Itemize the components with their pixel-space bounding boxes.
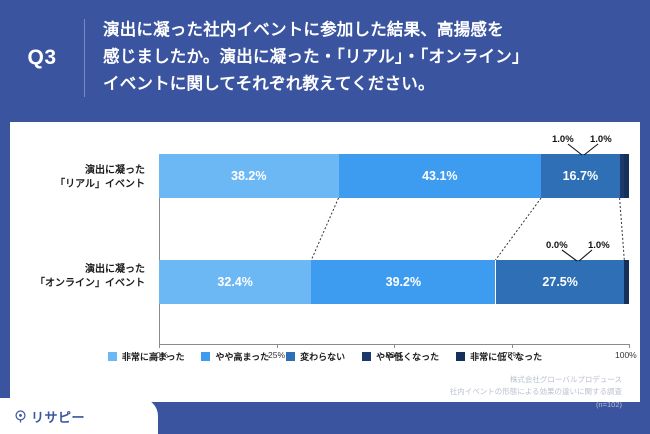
brand-logo[interactable]: リサピー — [14, 407, 85, 426]
x-tick-3 — [512, 344, 513, 348]
callout-row-1-leader-lines — [544, 250, 628, 262]
question-number: Q3 — [0, 46, 84, 70]
legend-label-3: やや低くなった — [376, 350, 439, 363]
legend-swatch-0 — [108, 352, 117, 361]
legend-swatch-4 — [456, 352, 465, 361]
legend-label-0: 非常に高まった — [122, 350, 185, 363]
category-label-0-line-0: 演出に凝った — [10, 164, 145, 178]
header-divider — [84, 19, 85, 97]
credit-sample-size: (n=102) — [450, 399, 622, 411]
legend-item-4[interactable]: 非常に低くなった — [456, 350, 542, 363]
chart-panel: 演出に凝った 「リアル」イベント 演出に凝った 「オンライン」イベント 38.2… — [10, 122, 640, 402]
survey-chart-slide: Q3 演出に凝った社内イベントに参加した結果、高揚感を 感じましたか。演出に凝っ… — [0, 0, 650, 434]
bar-segment-1-0: 32.4% — [159, 260, 311, 304]
legend-item-0[interactable]: 非常に高まった — [108, 350, 185, 363]
stacked-bar-row-0: 38.2% 43.1% 16.7% — [159, 154, 629, 198]
bar-segment-0-2: 16.7% — [541, 154, 620, 198]
category-label-0-line-1: 「リアル」イベント — [10, 178, 145, 192]
question-header: Q3 演出に凝った社内イベントに参加した結果、高揚感を 感じましたか。演出に凝っ… — [0, 0, 650, 115]
question-line-1: 演出に凝った社内イベントに参加した結果、高揚感を — [103, 17, 529, 44]
chart-legend: 非常に高まった やや高まった 変わらない やや低くなった 非常に低くなった — [10, 350, 640, 363]
callout-row-0-leader-lines — [550, 144, 630, 156]
bar-segment-1-2: 27.5% — [496, 260, 625, 304]
credit-survey: 社内イベントの形態による効果の違いに関する調査 — [450, 386, 622, 398]
legend-item-3[interactable]: やや低くなった — [362, 350, 439, 363]
x-tick-1 — [277, 344, 278, 348]
bar-segment-0-4 — [624, 154, 629, 198]
question-text: 演出に凝った社内イベントに参加した結果、高揚感を 感じましたか。演出に凝った・「… — [85, 17, 529, 97]
credit-company: 株式会社グローバルプロデュース — [450, 374, 622, 386]
legend-swatch-1 — [201, 352, 210, 361]
category-label-1-line-1: 「オンライン」イベント — [10, 277, 145, 291]
bar-category-label-0: 演出に凝った 「リアル」イベント — [10, 164, 152, 191]
legend-label-2: 変わらない — [300, 350, 345, 363]
question-line-3: イベントに関してそれぞれ教えてください。 — [103, 71, 529, 98]
legend-swatch-3 — [362, 352, 371, 361]
legend-label-1: やや高まった — [215, 350, 269, 363]
brand-logo-text: リサピー — [31, 407, 85, 426]
map-pin-icon — [14, 410, 27, 423]
legend-swatch-2 — [286, 352, 295, 361]
stacked-bar-row-1: 32.4% 39.2% 27.5% — [159, 260, 629, 304]
legend-item-1[interactable]: やや高まった — [201, 350, 269, 363]
source-credit: 株式会社グローバルプロデュース 社内イベントの形態による効果の違いに関する調査 … — [450, 374, 622, 411]
category-label-1-line-0: 演出に凝った — [10, 263, 145, 277]
bar-segment-0-0: 38.2% — [159, 154, 339, 198]
x-tick-0 — [159, 344, 160, 348]
bar-segment-1-1: 39.2% — [311, 260, 495, 304]
x-tick-4 — [629, 344, 630, 348]
question-line-2: 感じましたか。演出に凝った・「リアル」・「オンライン」 — [103, 44, 529, 71]
bar-segment-1-4 — [624, 260, 629, 304]
legend-item-2[interactable]: 変わらない — [286, 350, 345, 363]
x-tick-2 — [394, 344, 395, 348]
bar-segment-0-1: 43.1% — [339, 154, 542, 198]
legend-label-4: 非常に低くなった — [470, 350, 542, 363]
bar-category-label-1: 演出に凝った 「オンライン」イベント — [10, 263, 152, 290]
